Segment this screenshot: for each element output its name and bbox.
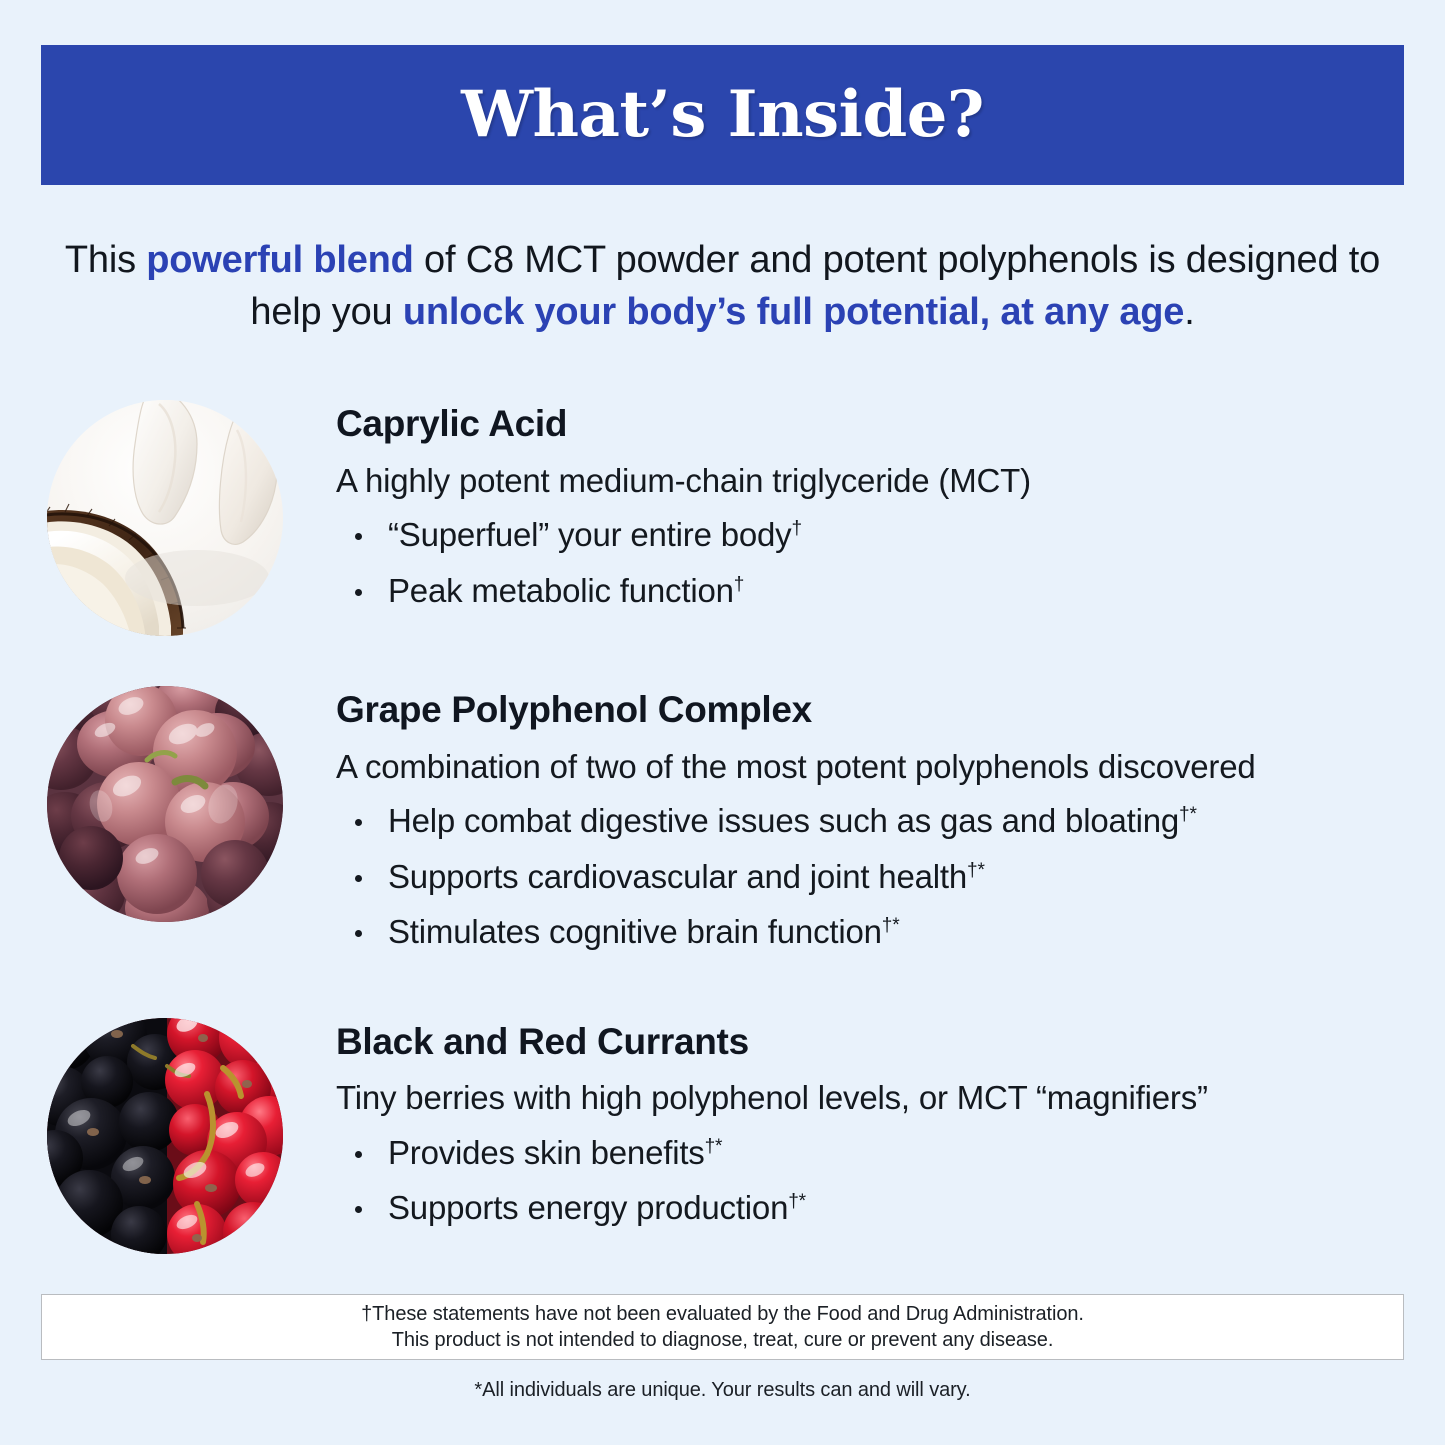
bullet-dot-icon (355, 1206, 362, 1213)
footnote-marker: †* (705, 1136, 723, 1157)
benefit-text: Stimulates cognitive brain function (388, 913, 882, 950)
intro-paragraph: This powerful blend of C8 MCT powder and… (60, 234, 1385, 339)
bullet-dot-icon (355, 819, 362, 826)
ingredient-benefit-list: Provides skin benefits†* Supports energy… (336, 1133, 1445, 1244)
header-banner: What’s Inside? (41, 45, 1404, 185)
list-item: Help combat digestive issues such as gas… (336, 801, 1445, 857)
ingredient-row-caprylic-acid: Caprylic Acid A highly potent medium-cha… (0, 400, 1445, 636)
benefit-text: Supports cardiovascular and joint health (388, 858, 967, 895)
footnote-marker: † (734, 574, 744, 595)
ingredient-title: Black and Red Currants (336, 1022, 1445, 1063)
ingredient-subtitle: A highly potent medium-chain triglycerid… (336, 461, 1445, 501)
ingredient-subtitle: A combination of two of the most potent … (336, 747, 1445, 787)
currants-photo (47, 1018, 283, 1254)
ingredient-row-black-and-red-currants: Black and Red Currants Tiny berries with… (0, 1018, 1445, 1254)
list-item: Supports cardiovascular and joint health… (336, 857, 1445, 913)
page-title: What’s Inside? (461, 83, 984, 147)
disclaimer-line-1: †These statements have not been evaluate… (361, 1301, 1084, 1327)
list-item: Provides skin benefits†* (336, 1133, 1445, 1189)
list-item: Supports energy production†* (336, 1188, 1445, 1244)
ingredient-text-black-and-red-currants: Black and Red Currants Tiny berries with… (283, 1018, 1445, 1244)
benefit-text: Peak metabolic function (388, 572, 734, 609)
bullet-dot-icon (355, 589, 362, 596)
bullet-dot-icon (355, 533, 362, 540)
coconut-photo (47, 400, 283, 636)
list-item: “Superfuel” your entire body† (336, 515, 1445, 571)
bullet-dot-icon (355, 1151, 362, 1158)
ingredient-title: Grape Polyphenol Complex (336, 690, 1445, 731)
list-item: Peak metabolic function† (336, 571, 1445, 627)
ingredient-text-grape-polyphenol-complex: Grape Polyphenol Complex A combination o… (283, 686, 1445, 968)
intro-highlight-powerful-blend: powerful blend (146, 239, 413, 281)
benefit-text: Help combat digestive issues such as gas… (388, 802, 1179, 839)
intro-text-part3: . (1184, 291, 1194, 333)
ingredient-list: Caprylic Acid A highly potent medium-cha… (0, 400, 1445, 1304)
ingredient-benefit-list: “Superfuel” your entire body† Peak metab… (336, 515, 1445, 626)
footnote-marker: † (791, 518, 801, 539)
disclaimer-line-2: This product is not intended to diagnose… (392, 1327, 1054, 1353)
benefit-text: “Superfuel” your entire body (388, 516, 791, 553)
ingredient-benefit-list: Help combat digestive issues such as gas… (336, 801, 1445, 968)
grapes-photo (47, 686, 283, 922)
intro-highlight-unlock-potential: unlock your body’s full potential, at an… (403, 291, 1184, 333)
benefit-text: Provides skin benefits (388, 1134, 705, 1171)
footnote-marker: †* (1179, 804, 1197, 825)
footnote-marker: †* (788, 1191, 806, 1212)
ingredient-row-grape-polyphenol-complex: Grape Polyphenol Complex A combination o… (0, 686, 1445, 968)
results-vary-footnote: *All individuals are unique. Your result… (0, 1379, 1445, 1402)
ingredient-subtitle: Tiny berries with high polyphenol levels… (336, 1078, 1445, 1118)
footnote-marker: †* (967, 860, 985, 881)
ingredient-title: Caprylic Acid (336, 404, 1445, 445)
footnote-marker: †* (882, 915, 900, 936)
intro-text-part1: This (65, 239, 146, 281)
benefit-text: Supports energy production (388, 1189, 788, 1226)
ingredient-text-caprylic-acid: Caprylic Acid A highly potent medium-cha… (283, 400, 1445, 626)
bullet-dot-icon (355, 875, 362, 882)
list-item: Stimulates cognitive brain function†* (336, 912, 1445, 968)
fda-disclaimer-box: †These statements have not been evaluate… (41, 1294, 1404, 1360)
bullet-dot-icon (355, 930, 362, 937)
